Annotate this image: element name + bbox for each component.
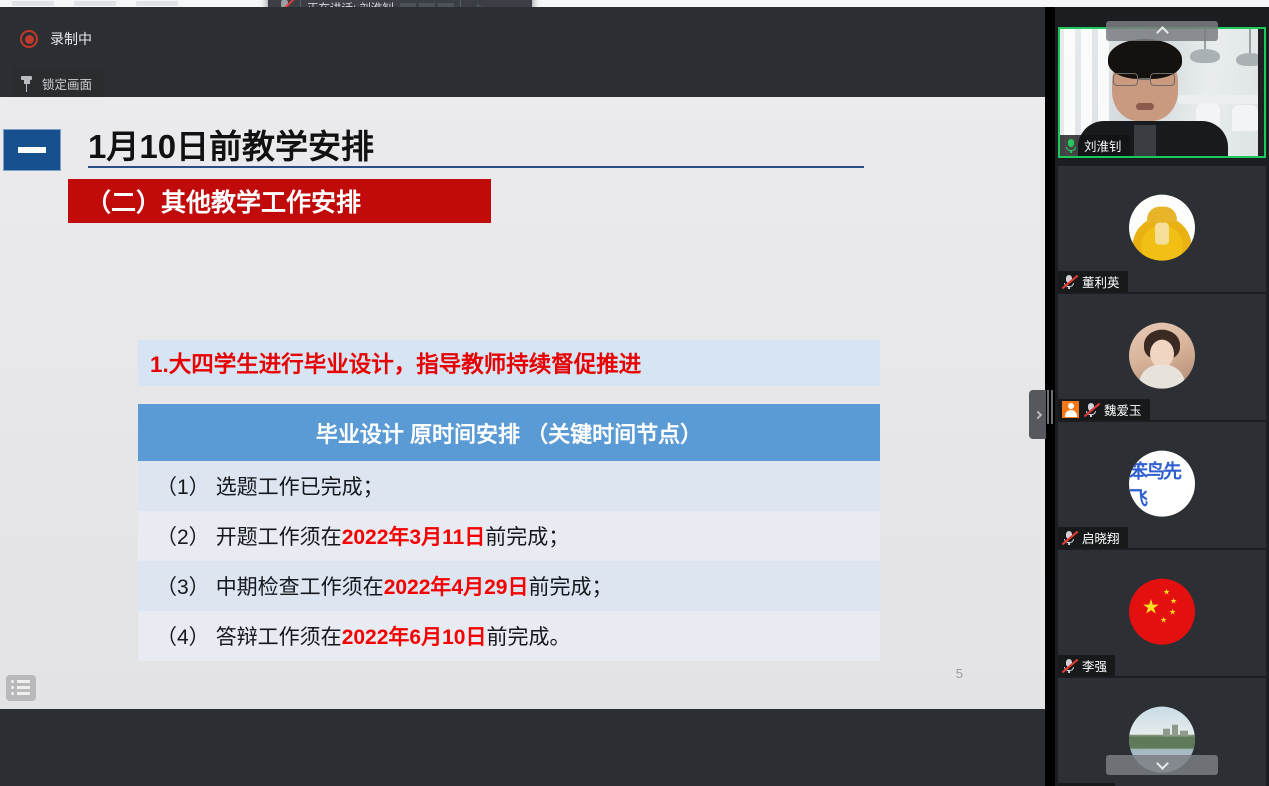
row-number: （4） (156, 621, 210, 651)
participant-name: 李强 (1082, 656, 1107, 675)
window-button-1[interactable] (12, 1, 54, 6)
row-text-pre: 中期检查工作须在 (216, 571, 384, 601)
dash-square-icon (3, 129, 61, 171)
row-number: （2） (156, 521, 210, 551)
table-row: （4） 答辩工作须在 2022年6月10日 前完成。 (138, 611, 880, 661)
row-date: 2022年6月10日 (342, 621, 487, 651)
participant-nameplate: 刘淮钊 (1060, 135, 1130, 156)
avatar (1129, 323, 1195, 389)
participant-tile[interactable]: 董利英 (1058, 166, 1266, 292)
mic-on-icon (1064, 138, 1079, 154)
table-row: （3） 中期检查工作须在 2022年4月29日 前完成； (138, 561, 880, 611)
participant-nameplate: 董利英 (1058, 271, 1128, 292)
chevron-up-icon (1156, 26, 1169, 39)
collapse-panel-button[interactable] (1029, 390, 1046, 439)
scroll-up-button[interactable] (1106, 21, 1218, 41)
row-text-pre: 答辩工作须在 (216, 621, 342, 651)
table-header: 毕业设计 原时间安排 （关键时间节点） (138, 404, 880, 461)
recording-label: 录制中 (50, 29, 92, 49)
slide-page-number: 5 (956, 666, 963, 681)
slide-title: 1月10日前教学安排 (88, 120, 374, 168)
row-date: 2022年4月29日 (384, 571, 529, 601)
chevron-down-icon (1156, 757, 1169, 770)
scroll-down-button[interactable] (1106, 755, 1218, 775)
schedule-table: 毕业设计 原时间安排 （关键时间节点） （1） 选题工作已完成； （2） 开题工… (138, 404, 880, 661)
lock-screen-button[interactable]: 锁定画面 (12, 68, 104, 99)
shared-slide[interactable]: 1月10日前教学安排 （二）其他教学工作安排 1.大四学生进行毕业设计，指导教师… (0, 97, 1045, 709)
section-banner: （二）其他教学工作安排 (68, 179, 491, 223)
participant-tile-active[interactable]: 刘淮钊 (1058, 27, 1266, 158)
row-text-post: 前完成； (528, 571, 612, 601)
lock-screen-label: 锁定画面 (42, 74, 92, 93)
title-underline (88, 166, 864, 168)
table-row: （1） 选题工作已完成； (138, 461, 880, 511)
avatar: 笨鸟先飞 (1129, 451, 1195, 517)
window-titlebar (0, 0, 1269, 7)
avatar (1129, 195, 1195, 261)
row-text-post: 前完成。 (486, 621, 570, 651)
window-button-3[interactable] (136, 1, 178, 6)
panel-drag-handle[interactable] (1047, 390, 1054, 424)
participant-nameplate: 启晓翔 (1058, 527, 1128, 548)
mic-muted-icon (1062, 658, 1077, 674)
participant-name: 董利英 (1082, 272, 1120, 291)
host-badge-icon (1062, 401, 1079, 418)
lead-highlight-box: 1.大四学生进行毕业设计，指导教师持续督促推进 (138, 340, 880, 386)
participant-tile[interactable]: 笨鸟先飞 启晓翔 (1058, 422, 1266, 548)
participant-nameplate: 魏爱玉 (1058, 399, 1150, 420)
row-text-pre: 开题工作须在 (216, 521, 342, 551)
lead-highlight-text: 1.大四学生进行毕业设计，指导教师持续督促推进 (150, 347, 641, 379)
table-row: （2） 开题工作须在 2022年3月11日 前完成； (138, 511, 880, 561)
row-number: （3） (156, 571, 210, 601)
meeting-screen-share-window: 正在讲话: 刘淮钊 录制中 锁定画面 1月10日前教学安排 （ (0, 0, 1269, 786)
row-text-pre: 选题工作已完成； (216, 471, 384, 501)
participant-name: 刘淮钊 (1084, 136, 1122, 155)
shared-content-stage: 录制中 锁定画面 1月10日前教学安排 （二）其他教学工作安排 1.大四学生进行… (0, 7, 1045, 786)
window-button-2[interactable] (74, 1, 116, 6)
avatar-glyph: 笨鸟先飞 (1129, 451, 1195, 517)
list-panel-icon[interactable] (6, 675, 36, 701)
chevron-right-icon (1033, 410, 1041, 418)
pin-icon (20, 76, 33, 92)
record-dot-icon (20, 30, 38, 48)
mic-muted-icon (1062, 530, 1077, 546)
participant-nameplate: 李强 (1058, 655, 1115, 676)
participant-tile[interactable]: ★★★ ★★ 李强 (1058, 550, 1266, 676)
row-date: 2022年3月11日 (342, 521, 486, 551)
participant-filmstrip: 刘淮钊 董利英 (1055, 7, 1269, 786)
row-text-post: 前完成； (485, 521, 569, 551)
recording-indicator: 录制中 (20, 29, 92, 49)
mic-muted-icon (1084, 402, 1099, 418)
row-number: （1） (156, 471, 210, 501)
participant-tile[interactable]: 魏爱玉 (1058, 294, 1266, 420)
participant-name: 启晓翔 (1082, 528, 1120, 547)
participant-name: 魏爱玉 (1104, 400, 1142, 419)
mic-muted-icon (1062, 274, 1077, 290)
avatar: ★★★ ★★ (1129, 579, 1195, 645)
